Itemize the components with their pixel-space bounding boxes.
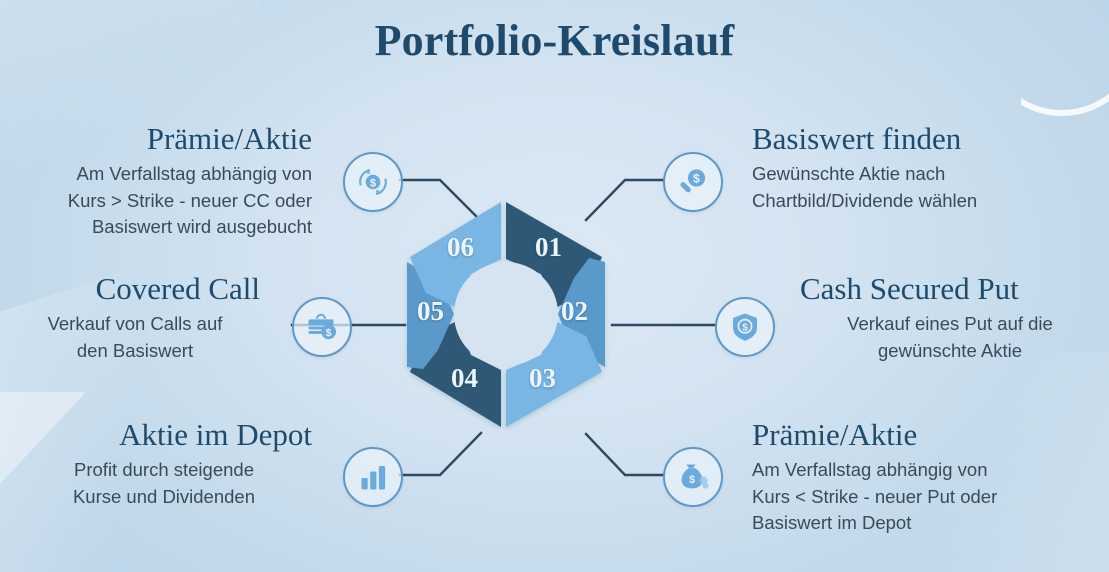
briefcase-dollar-icon: $ [305, 310, 339, 344]
step-text-06: Prämie/Aktie Am Verfallstag abhängig von… [0, 122, 312, 240]
connector-line-04 [400, 433, 481, 475]
cycle-donut-chart: 01 02 03 04 05 06 [389, 196, 623, 430]
step-heading-03: Prämie/Aktie [752, 418, 1104, 451]
step-heading-06: Prämie/Aktie [0, 122, 312, 155]
money-bag-icon: $ [676, 460, 710, 494]
step-body-03: Am Verfallstag abhängig von Kurs < Strik… [752, 457, 1104, 536]
donut-svg [389, 196, 623, 430]
step-text-01: Basiswert finden Gewünschte Aktie nach C… [752, 122, 1102, 214]
donut-hub [454, 262, 558, 366]
svg-text:$: $ [689, 474, 695, 486]
step-text-05: Covered Call Verkauf von Calls auf den B… [10, 272, 260, 364]
step-body-04: Profit durch steigende Kurse und Dividen… [16, 457, 312, 510]
step-heading-02: Cash Secured Put [800, 272, 1100, 305]
refresh-dollar-icon: $ [356, 165, 390, 199]
step-body-02: Verkauf eines Put auf die gewünschte Akt… [800, 311, 1100, 364]
step-heading-04: Aktie im Depot [16, 418, 312, 451]
bar-chart-icon [357, 461, 389, 493]
step-icon-01[interactable]: $ [663, 152, 723, 212]
step-heading-05: Covered Call [10, 272, 260, 305]
svg-text:$: $ [326, 327, 332, 339]
step-heading-01: Basiswert finden [752, 122, 1102, 155]
infographic-canvas: Portfolio-Kreislauf [0, 0, 1109, 572]
step-icon-03[interactable]: $ [663, 447, 723, 507]
magnifier-dollar-icon: $ [676, 165, 710, 199]
svg-text:$: $ [370, 177, 376, 189]
step-icon-04[interactable] [343, 447, 403, 507]
shield-dollar-icon: $ [729, 311, 761, 343]
step-icon-02[interactable]: $ [715, 297, 775, 357]
step-body-05: Verkauf von Calls auf den Basiswert [10, 311, 260, 364]
step-text-02: Cash Secured Put Verkauf eines Put auf d… [800, 272, 1100, 364]
step-text-03: Prämie/Aktie Am Verfallstag abhängig von… [752, 418, 1104, 536]
step-text-04: Aktie im Depot Profit durch steigende Ku… [16, 418, 312, 510]
step-icon-06[interactable]: $ [343, 152, 403, 212]
svg-text:$: $ [742, 321, 748, 333]
page-title: Portfolio-Kreislauf [0, 15, 1109, 66]
step-body-06: Am Verfallstag abhängig von Kurs > Strik… [0, 161, 312, 240]
svg-text:$: $ [693, 172, 700, 186]
step-icon-05[interactable]: $ [292, 297, 352, 357]
step-body-01: Gewünschte Aktie nach Chartbild/Dividend… [752, 161, 1102, 214]
connector-line-03 [586, 434, 663, 475]
